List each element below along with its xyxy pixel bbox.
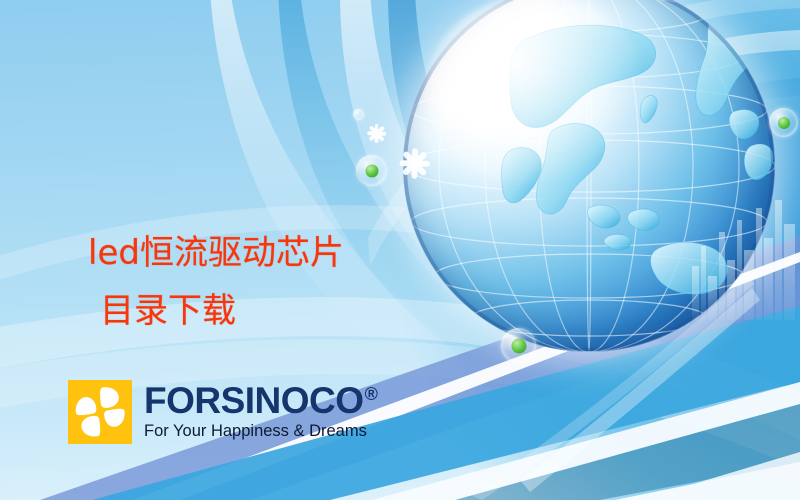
globe-highlight <box>425 0 648 188</box>
city-skyline-silhouette <box>690 190 800 320</box>
white-daisy-small <box>368 125 385 142</box>
page-title-line2: 目录下载 <box>88 282 508 340</box>
slide-canvas: led恒流驱动芯片 目录下载 FORSINOCO ® <box>0 0 800 500</box>
pinwheel-icon <box>68 380 132 444</box>
forsinoco-pinwheel-mark <box>68 380 132 444</box>
registered-trademark-icon: ® <box>365 385 378 403</box>
bubble-tiny-top <box>353 109 364 120</box>
company-logo[interactable]: FORSINOCO ® For Your Happiness & Dreams <box>68 380 377 444</box>
page-title: led恒流驱动芯片 目录下载 <box>88 166 508 398</box>
bubble-edge-green-globe <box>769 108 798 137</box>
brand-name: FORSINOCO <box>144 383 364 419</box>
brand-name-row: FORSINOCO ® <box>144 383 377 419</box>
page-title-line1: led恒流驱动芯片 <box>88 233 344 273</box>
logo-wordmark: FORSINOCO ® For Your Happiness & Dreams <box>144 383 377 441</box>
brand-tagline: For Your Happiness & Dreams <box>144 421 377 441</box>
